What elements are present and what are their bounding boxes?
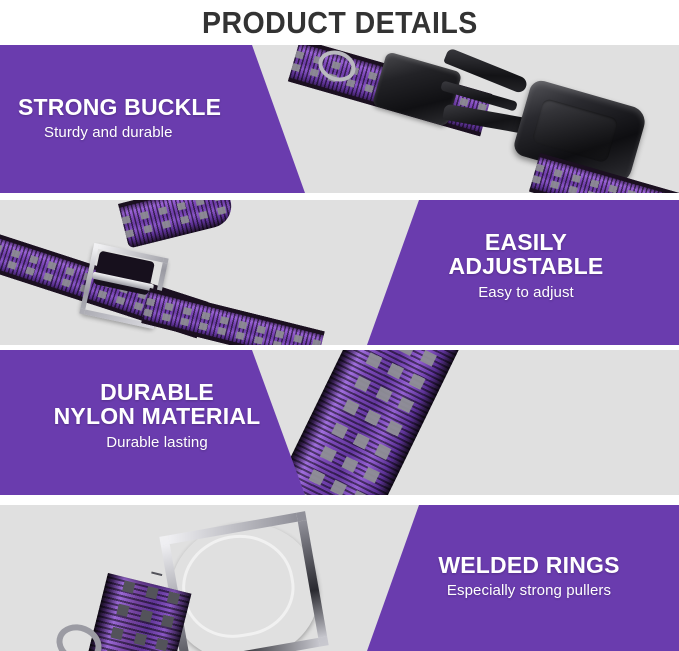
webbing-loop-icon <box>118 200 236 249</box>
product-details-infographic: PRODUCT DETAILS STRONG <box>0 0 679 651</box>
feature-panel-easily-adjustable: EASILY ADJUSTABLE Easy to adjust <box>0 200 679 345</box>
feature-panel-durable-nylon-material: DURABLE NYLON MATERIAL Durable lasting <box>0 350 679 495</box>
caption-subheading: Durable lasting <box>22 434 292 453</box>
caption-heading: STRONG BUCKLE <box>18 95 221 119</box>
webbing-strap-icon <box>141 288 324 345</box>
caption-strong-buckle: STRONG BUCKLE Sturdy and durable <box>18 95 221 143</box>
page-title-bar: PRODUCT DETAILS <box>0 0 679 45</box>
caption-durable-nylon-material: DURABLE NYLON MATERIAL Durable lasting <box>22 380 292 453</box>
caption-subheading: Easy to adjust <box>401 284 651 303</box>
caption-heading: DURABLE NYLON MATERIAL <box>22 380 292 429</box>
caption-subheading: Sturdy and durable <box>44 124 221 143</box>
feature-panel-strong-buckle: STRONG BUCKLE Sturdy and durable <box>0 45 679 193</box>
feature-panel-welded-rings: WELDED RINGS Especially strong pullers <box>0 505 679 651</box>
caption-heading: EASILY ADJUSTABLE <box>401 230 651 279</box>
caption-easily-adjustable: EASILY ADJUSTABLE Easy to adjust <box>401 230 651 303</box>
caption-welded-rings: WELDED RINGS Especially strong pullers <box>399 553 659 601</box>
caption-subheading: Especially strong pullers <box>399 582 659 601</box>
page-title: PRODUCT DETAILS <box>202 5 478 41</box>
caption-heading: WELDED RINGS <box>399 553 659 577</box>
